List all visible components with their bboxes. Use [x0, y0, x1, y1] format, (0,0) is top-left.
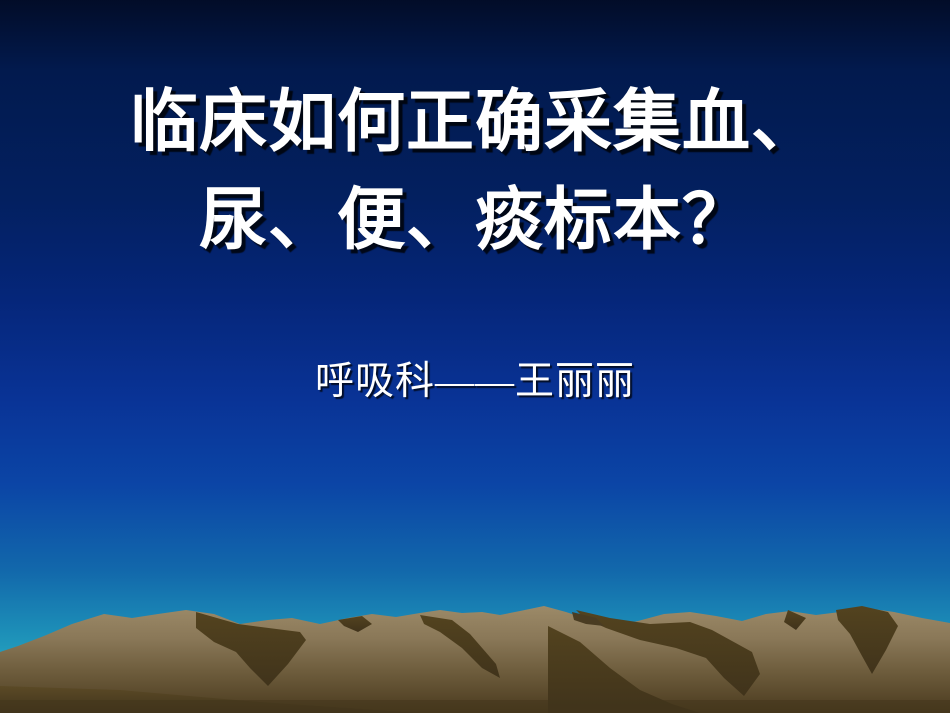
foreground-base [0, 700, 950, 713]
mountain-range-svg [0, 590, 950, 713]
slide-subtitle: 呼吸科——王丽丽 [0, 358, 950, 407]
title-line-1: 临床如何正确采集血、 [0, 74, 950, 172]
presentation-slide: 临床如何正确采集血、 尿、便、痰标本？ 呼吸科——王丽丽 [0, 0, 950, 713]
slide-title: 临床如何正确采集血、 尿、便、痰标本？ [0, 74, 950, 270]
subtitle-line-1: 呼吸科——王丽丽 [0, 358, 950, 407]
title-line-2: 尿、便、痰标本？ [0, 172, 950, 270]
mountain-range-icon [0, 590, 950, 713]
